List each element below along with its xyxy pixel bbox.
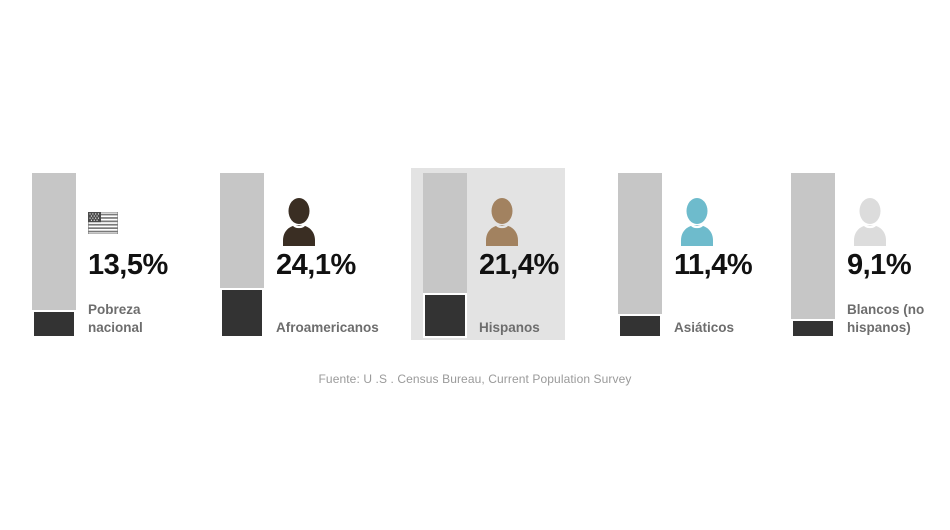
source-note: Fuente: U .S . Census Bureau, Current Po… — [0, 372, 950, 386]
bar-group-info: 24,1% Afroamericanos — [276, 173, 406, 338]
category-label: Hispanos — [479, 319, 611, 336]
value-label: 13,5% — [88, 251, 168, 280]
bar-track — [791, 173, 835, 338]
bar-group-info: 21,4% Hispanos — [479, 173, 609, 338]
us-flag-icon — [88, 212, 118, 234]
category-label-line1: Pobreza — [88, 302, 141, 317]
poverty-rate-chart: 13,5% Pobreza nacional 24,1% Afroamerica… — [0, 0, 950, 530]
person-icon — [847, 196, 893, 246]
category-label-line2: hispanos) — [847, 320, 911, 335]
bar-value — [32, 310, 76, 338]
value-label: 9,1% — [847, 251, 911, 280]
bar-track — [423, 173, 467, 338]
category-label-line1: Asiáticos — [674, 320, 734, 335]
value-label: 21,4% — [479, 251, 559, 280]
bar-group-info: 11,4% Asiáticos — [674, 173, 804, 338]
category-label: Pobreza nacional — [88, 301, 220, 336]
bar-track — [618, 173, 662, 338]
category-label-line1: Hispanos — [479, 320, 540, 335]
bar-value — [423, 293, 467, 338]
category-label-line1: Blancos (no — [847, 302, 924, 317]
bar-group-info: 13,5% Pobreza nacional — [88, 173, 218, 338]
bar-value — [220, 288, 264, 338]
person-icon — [674, 196, 720, 246]
bar-value — [791, 319, 835, 338]
bar-track — [220, 173, 264, 338]
bar-track — [32, 173, 76, 338]
person-icon — [276, 196, 322, 246]
category-label-line1: Afroamericanos — [276, 320, 379, 335]
person-icon — [479, 196, 525, 246]
category-label: Asiáticos — [674, 319, 806, 336]
bar-value — [618, 314, 662, 338]
value-label: 24,1% — [276, 251, 356, 280]
category-label-line2: nacional — [88, 320, 143, 335]
category-label: Blancos (no hispanos) — [847, 301, 950, 336]
value-label: 11,4% — [674, 251, 752, 280]
category-label: Afroamericanos — [276, 319, 408, 336]
bar-group-info: 9,1% Blancos (no hispanos) — [847, 173, 950, 338]
